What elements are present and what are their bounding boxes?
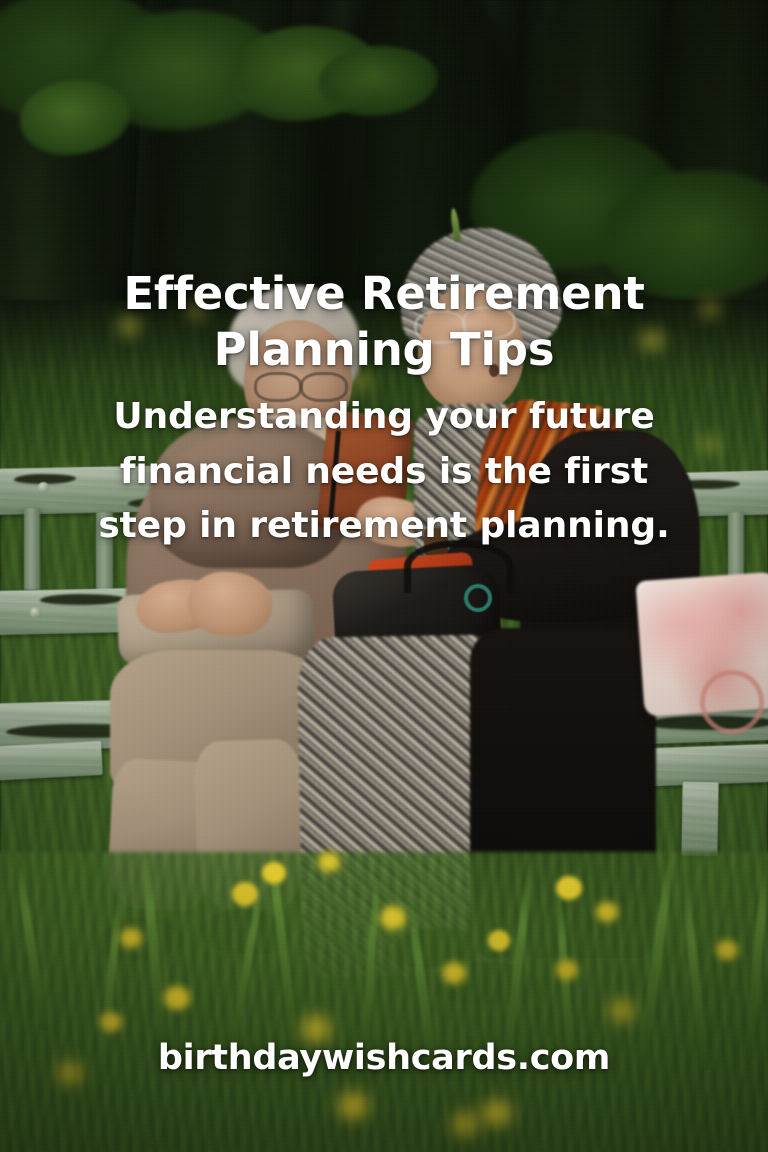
pin-title: Effective Retirement Planning Tips: [24, 266, 744, 378]
website-watermark: birthdaywishcards.com: [0, 1038, 768, 1078]
text-overlay: Effective Retirement Planning Tips Under…: [0, 0, 768, 1152]
pin-subtitle: Understanding your future financial need…: [64, 390, 704, 554]
subtitle-line-3: step in retirement planning.: [64, 499, 704, 554]
pinterest-pin-card: Effective Retirement Planning Tips Under…: [0, 0, 768, 1152]
subtitle-line-2: financial needs is the first: [64, 445, 704, 500]
subtitle-line-1: Understanding your future: [64, 390, 704, 445]
